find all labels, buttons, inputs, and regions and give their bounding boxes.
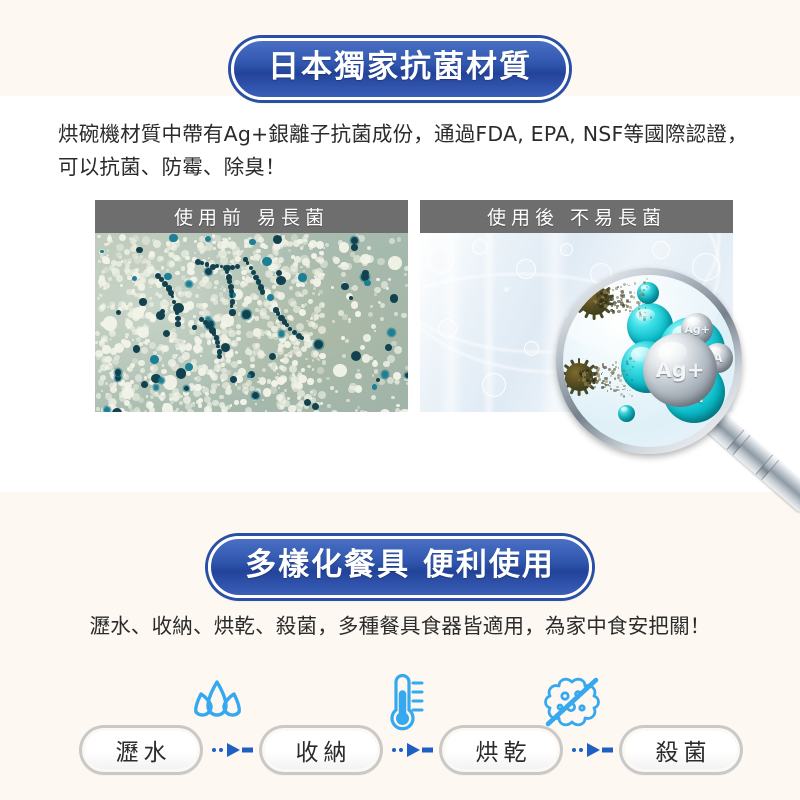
colony-speck (306, 320, 309, 323)
colony-speck (262, 399, 264, 401)
colony-speck (194, 240, 197, 243)
colony-speck (187, 346, 191, 350)
colony-speck (246, 331, 253, 338)
colony-speck (368, 312, 373, 317)
colony-speck (374, 330, 376, 332)
colony-speck (314, 394, 316, 396)
bacteria-dot (351, 351, 361, 361)
colony-speck (319, 290, 323, 294)
colony-speck (234, 306, 237, 309)
colony-speck (225, 388, 232, 395)
colony-speck (355, 373, 362, 380)
colony-speck (304, 340, 312, 348)
colony-speck (374, 293, 377, 296)
bacteria-dot (390, 294, 398, 302)
colony-speck (281, 411, 288, 413)
bacteria-dot (262, 257, 272, 267)
product-feature-page: 日本獨家抗菌材質 烘碗機材質中帶有Ag+銀離子抗菌成份，通過FDA, EPA, … (0, 0, 800, 800)
colony-speck (183, 390, 188, 395)
colony-speck (291, 255, 295, 259)
colony-speck (291, 383, 297, 389)
colony-speck (202, 272, 205, 275)
colony-speck (146, 401, 153, 408)
colony-speck (95, 331, 100, 336)
colony-speck (322, 273, 325, 276)
colony-speck (186, 371, 191, 376)
colony-speck (99, 353, 103, 357)
colony-speck (179, 401, 183, 405)
colony-speck (109, 338, 112, 341)
colony-speck (252, 255, 259, 262)
colony-speck (123, 340, 131, 348)
colony-speck (175, 271, 179, 275)
bacteria-dot (341, 283, 348, 290)
colony-large (114, 343, 124, 353)
colony-speck (391, 396, 394, 399)
colony-speck (380, 317, 384, 321)
colony-speck (138, 397, 144, 403)
water-drops-icon (187, 678, 251, 726)
colony-speck (128, 404, 132, 408)
bacteria-dot (351, 244, 357, 250)
bokeh-circle (524, 341, 539, 356)
colony-speck (220, 297, 225, 302)
colony-speck (381, 281, 388, 288)
colony-speck (212, 400, 218, 406)
colony-speck (227, 251, 231, 255)
colony-speck (242, 387, 249, 394)
colony-speck (166, 269, 169, 272)
colony-speck (278, 387, 281, 390)
colony-speck (214, 286, 217, 289)
bacteria-dot (141, 381, 148, 388)
colony-speck (262, 334, 265, 337)
colony-speck (284, 389, 287, 392)
bacteria-dot (269, 353, 276, 360)
colony-speck (169, 337, 173, 341)
colony-speck (200, 355, 202, 357)
colony-speck (387, 355, 395, 363)
colony-speck (110, 386, 117, 393)
bacterial-colony-layer (95, 233, 408, 412)
colony-speck (373, 360, 377, 364)
colony-speck (148, 255, 151, 258)
bokeh-circle (482, 373, 506, 397)
panel-header-label: 使用後 不易長菌 (487, 203, 666, 230)
panel-image-after (420, 233, 733, 412)
colony-speck (231, 361, 238, 368)
colony-speck (181, 266, 186, 271)
flow-arrow-3 (572, 739, 614, 761)
colony-speck (262, 368, 266, 372)
colony-speck (348, 321, 350, 323)
colony-speck (124, 249, 130, 255)
colony-speck (226, 358, 231, 363)
flow-step-label: 瀝水 (111, 733, 172, 767)
colony-speck (107, 249, 110, 252)
bacteria-dot (116, 310, 121, 315)
colony-speck (340, 262, 348, 270)
colony-speck (284, 309, 288, 313)
bacteria-streak-dot (227, 279, 232, 284)
colony-speck (319, 313, 324, 318)
colony-speck (103, 287, 106, 290)
colony-speck (245, 407, 252, 412)
colony-speck (198, 398, 203, 403)
bacteria-dot (364, 280, 371, 287)
colony-speck (389, 238, 395, 244)
colony-speck (342, 314, 347, 319)
colony-large (388, 256, 402, 270)
colony-speck (258, 300, 261, 303)
section-heading-versatile: 多樣化餐具 便利使用 (0, 536, 800, 598)
colony-speck (249, 386, 254, 391)
bacteria-dot (133, 345, 140, 352)
colony-speck (235, 256, 241, 262)
colony-speck (96, 407, 99, 410)
colony-speck (332, 320, 334, 322)
bacteria-dot (349, 296, 353, 300)
colony-speck (257, 351, 265, 359)
colony-speck (367, 246, 371, 250)
bacteria-dot (139, 298, 146, 305)
colony-speck (287, 241, 293, 247)
colony-speck (156, 281, 163, 288)
colony-speck (187, 409, 194, 412)
flow-step-3[interactable]: 烘乾 (442, 728, 560, 772)
colony-large (132, 307, 144, 319)
bacteria-streak-dot (229, 309, 235, 315)
colony-speck (288, 249, 291, 252)
colony-speck (213, 247, 216, 250)
colony-speck (293, 347, 301, 355)
colony-speck (391, 341, 397, 347)
panel-image-before (95, 233, 408, 412)
colony-speck (301, 368, 305, 372)
colony-speck (331, 410, 338, 412)
colony-speck (101, 304, 105, 308)
bokeh-circle (428, 247, 454, 273)
bacteria-dot (298, 273, 307, 282)
colony-speck (149, 302, 154, 307)
process-flow: 瀝水 收納 烘乾 殺菌 (0, 672, 800, 784)
colony-speck (219, 292, 224, 297)
colony-speck (394, 346, 402, 354)
bacteria-streak-dot (230, 294, 234, 298)
colony-speck (132, 235, 139, 242)
colony-speck (210, 389, 216, 395)
colony-speck (205, 409, 211, 412)
colony-speck (289, 374, 297, 382)
colony-speck (214, 280, 219, 285)
colony-speck (110, 305, 115, 310)
colony-speck (141, 347, 148, 354)
colony-speck (250, 364, 255, 369)
colony-large (299, 309, 306, 316)
bacteria-dot (312, 403, 320, 411)
colony-speck (182, 352, 190, 360)
colony-speck (195, 294, 199, 298)
bacteria-dot (186, 281, 192, 287)
colony-speck (307, 365, 310, 368)
colony-speck (132, 358, 138, 364)
colony-speck (223, 288, 227, 292)
bokeh-circle (652, 241, 670, 259)
colony-speck (342, 354, 346, 358)
flow-step-2[interactable]: 收納 (262, 728, 380, 772)
section-heading-antibacterial: 日本獨家抗菌材質 (0, 38, 800, 100)
colony-speck (318, 391, 326, 399)
colony-speck (363, 334, 371, 342)
colony-speck (172, 354, 177, 359)
colony-speck (101, 270, 105, 274)
colony-speck (161, 392, 165, 396)
colony-speck (307, 378, 313, 384)
colony-speck (102, 257, 110, 265)
colony-large (360, 254, 371, 265)
colony-speck (185, 256, 190, 261)
colony-speck (275, 366, 279, 370)
colony-speck (101, 390, 103, 392)
colony-speck (306, 264, 309, 267)
bacteria-dot (304, 399, 311, 406)
bacteria-streak-dot (175, 310, 179, 314)
colony-speck (112, 268, 120, 276)
bacteria-dot (115, 369, 122, 376)
colony-speck (295, 403, 303, 411)
colony-speck (256, 249, 261, 254)
bacteria-streak-dot (205, 262, 209, 266)
colony-speck (125, 318, 129, 322)
colony-speck (357, 406, 360, 409)
bacteria-dot (351, 237, 358, 244)
colony-speck (202, 303, 208, 309)
colony-speck (310, 391, 313, 394)
bacteria-dot (185, 363, 193, 371)
colony-speck (132, 339, 134, 341)
colony-speck (355, 409, 358, 412)
colony-speck (300, 266, 303, 269)
bacteria-streak-dot (175, 321, 181, 327)
colony-large (138, 327, 149, 338)
colony-speck (300, 245, 304, 249)
colony-speck (202, 386, 205, 389)
bacteria-dot (249, 239, 256, 246)
colony-speck (213, 299, 219, 305)
colony-speck (200, 303, 203, 306)
colony-speck (404, 273, 407, 276)
colony-speck (303, 270, 305, 272)
colony-speck (149, 342, 156, 349)
colony-speck (195, 376, 201, 382)
colony-speck (289, 365, 297, 373)
bacteria-dot (362, 270, 368, 276)
heading-badge-antibacterial: 日本獨家抗菌材質 (231, 38, 569, 100)
bacteria-dot (164, 273, 172, 281)
colony-speck (150, 395, 154, 399)
flow-step-label: 殺菌 (651, 733, 712, 767)
bacteria-streak-dot (235, 264, 240, 269)
colony-speck (96, 393, 102, 399)
colony-speck (371, 324, 376, 329)
bacteria-dot (267, 294, 274, 301)
colony-speck (288, 298, 296, 306)
colony-speck (406, 382, 408, 385)
bacteria-dot (176, 368, 186, 378)
flow-step-label: 烘乾 (471, 733, 532, 767)
colony-speck (288, 317, 291, 320)
colony-speck (161, 267, 164, 270)
flow-step-4[interactable]: 殺菌 (622, 728, 740, 772)
colony-speck (167, 260, 174, 267)
colony-speck (331, 286, 334, 289)
colony-speck (237, 386, 241, 390)
bacteria-dot (388, 329, 395, 336)
colony-speck (108, 277, 112, 281)
bokeh-circle (590, 263, 612, 285)
colony-speck (144, 410, 147, 412)
colony-large (103, 316, 117, 330)
bokeh-dot (504, 287, 509, 292)
colony-speck (217, 369, 220, 372)
colony-speck (305, 303, 307, 305)
colony-speck (250, 357, 255, 362)
colony-speck (142, 236, 150, 244)
colony-speck (348, 318, 351, 321)
panel-header-after: 使用後 不易長菌 (420, 200, 733, 233)
colony-speck (120, 284, 123, 287)
colony-speck (272, 285, 276, 289)
colony-speck (401, 313, 407, 319)
flow-step-1[interactable]: 瀝水 (82, 728, 200, 772)
colony-speck (205, 243, 213, 251)
bacteria-streak-dot (216, 345, 219, 348)
bokeh-circle (560, 243, 573, 256)
colony-speck (346, 399, 349, 402)
colony-large (162, 403, 173, 412)
colony-speck (97, 297, 100, 300)
bacteria-dot (252, 392, 259, 399)
body-line: 烘碗機材質中帶有Ag+銀離子抗菌成份，通過FDA, EPA, NSF等國際認證， (58, 118, 758, 151)
colony-speck (238, 312, 242, 316)
colony-speck (319, 302, 325, 308)
colony-speck (282, 235, 285, 238)
colony-speck (305, 333, 311, 339)
bacteria-dot (184, 386, 189, 391)
colony-speck (214, 314, 221, 321)
colony-speck (279, 337, 286, 344)
bacteria-dot (150, 355, 159, 364)
panel-header-before: 使用前 易長菌 (95, 200, 408, 233)
colony-speck (133, 384, 139, 390)
colony-speck (271, 380, 278, 387)
colony-speck (296, 323, 304, 331)
heading-text: 多樣化餐具 便利使用 (245, 547, 555, 583)
colony-speck (163, 345, 169, 351)
colony-speck (237, 360, 242, 365)
colony-speck (228, 328, 233, 333)
heading-badge-versatile: 多樣化餐具 便利使用 (208, 536, 592, 598)
colony-speck (141, 260, 145, 264)
body-copy-antibacterial: 烘碗機材質中帶有Ag+銀離子抗菌成份，通過FDA, EPA, NSF等國際認證，… (58, 118, 758, 184)
colony-speck (179, 411, 184, 412)
colony-speck (234, 400, 238, 404)
bacteria-dot (136, 247, 143, 254)
colony-speck (116, 244, 124, 252)
colony-speck (351, 301, 358, 308)
colony-speck (312, 269, 317, 274)
colony-speck (219, 395, 223, 399)
colony-speck (198, 403, 203, 408)
colony-speck (187, 262, 194, 269)
colony-speck (212, 241, 216, 245)
colony-speck (217, 384, 220, 387)
bacteria-dot (205, 236, 211, 242)
bokeh-circle (438, 319, 457, 338)
colony-speck (135, 374, 143, 382)
colony-large (298, 375, 306, 383)
colony-large (339, 242, 349, 252)
colony-speck (119, 234, 126, 241)
colony-speck (312, 292, 315, 295)
colony-speck (99, 293, 101, 295)
colony-speck (218, 250, 226, 258)
bacteria-streak-dot (260, 289, 266, 295)
bacteria-dot (156, 311, 165, 320)
colony-large (380, 409, 389, 412)
colony-speck (330, 386, 334, 390)
colony-large (398, 409, 408, 412)
colony-speck (113, 382, 118, 387)
colony-speck (255, 316, 259, 320)
colony-speck (388, 278, 391, 281)
colony-speck (124, 374, 127, 377)
colony-speck (244, 296, 252, 304)
colony-speck (311, 322, 314, 325)
bokeh-circle (692, 253, 720, 281)
colony-speck (287, 397, 290, 400)
colony-large (221, 314, 233, 326)
colony-speck (265, 315, 270, 320)
photo-panel-after: 使用後 不易長菌 (420, 200, 733, 412)
bacteria-dot (112, 408, 122, 412)
bacteria-dot (276, 276, 286, 286)
colony-speck (355, 311, 361, 317)
colony-speck (183, 237, 187, 241)
colony-speck (109, 240, 113, 244)
colony-large (313, 278, 322, 287)
colony-speck (318, 326, 326, 334)
colony-speck (149, 286, 151, 288)
body-copy-versatile: 瀝水、收納、烘乾、殺菌，多種餐具食器皆適用，為家中食安把關！ (0, 610, 800, 643)
colony-speck (312, 368, 314, 370)
colony-speck (181, 325, 185, 329)
bacteria-streak-dot (174, 305, 179, 310)
colony-speck (311, 312, 319, 320)
colony-large (163, 375, 178, 390)
photo-panel-before: 使用前 易長菌 (95, 200, 408, 412)
colony-speck (394, 312, 398, 316)
thermometer-icon (382, 672, 430, 734)
colony-speck (289, 286, 293, 290)
colony-speck (166, 241, 171, 246)
colony-speck (404, 266, 408, 271)
colony-speck (374, 369, 378, 373)
colony-speck (140, 368, 145, 373)
colony-speck (352, 285, 358, 291)
bacteria-dot (276, 270, 282, 276)
bacteria-dot (230, 376, 237, 383)
